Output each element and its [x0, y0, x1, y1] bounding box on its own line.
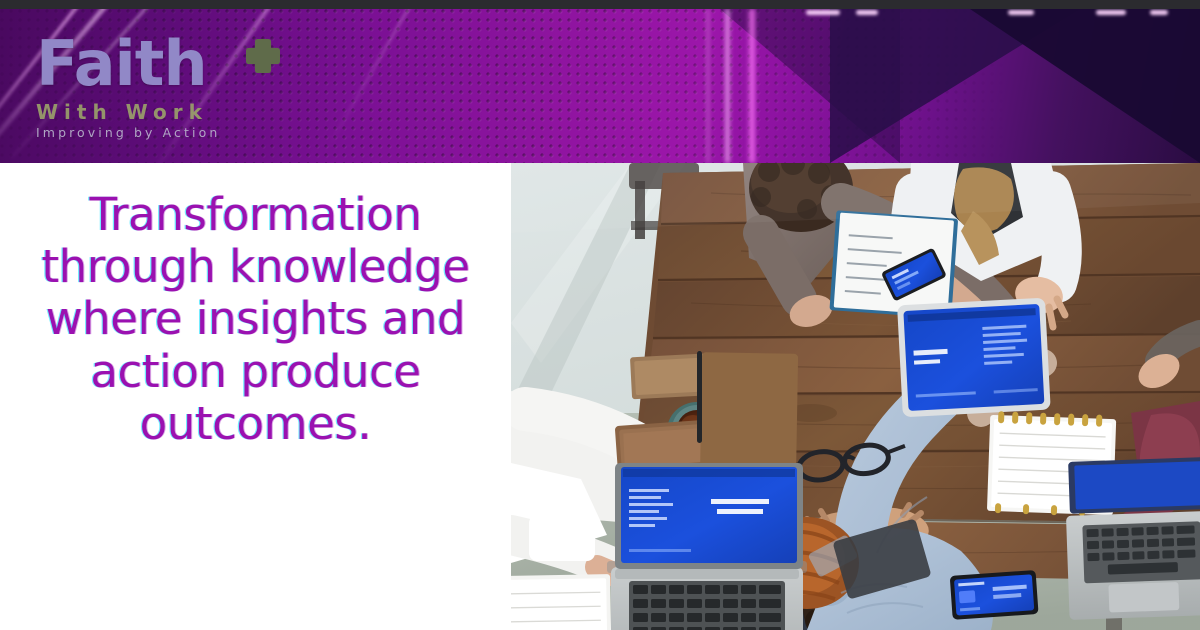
edge-glint: [856, 10, 878, 15]
top-dark-strip: [0, 0, 1200, 9]
brand-banner: Faith With Work Improving by Action: [0, 9, 1200, 163]
dark-wedge-shape: [970, 9, 1200, 163]
logo-faith-text: Faith: [36, 27, 207, 100]
edge-glint: [1008, 10, 1034, 15]
brand-logo[interactable]: Faith With Work Improving by Action: [36, 33, 316, 140]
edge-glint: [1150, 10, 1168, 15]
logo-with-work-text: With Work: [36, 101, 316, 123]
vertical-light-bar: [706, 9, 710, 163]
vertical-light-bar: [724, 9, 731, 163]
plus-cross-icon: [244, 37, 282, 75]
page-title: Transformation through knowledge where i…: [21, 189, 491, 450]
team-collaboration-photo: [511, 163, 1200, 630]
headline-panel: Transformation through knowledge where i…: [0, 163, 511, 630]
vertical-light-bar: [747, 9, 757, 163]
logo-wordmark-row: Faith: [36, 33, 316, 95]
promo-banner-page: Faith With Work Improving by Action Tran…: [0, 0, 1200, 630]
logo-tagline-text: Improving by Action: [36, 126, 316, 140]
edge-glint: [806, 10, 840, 15]
edge-glint: [1096, 10, 1126, 15]
